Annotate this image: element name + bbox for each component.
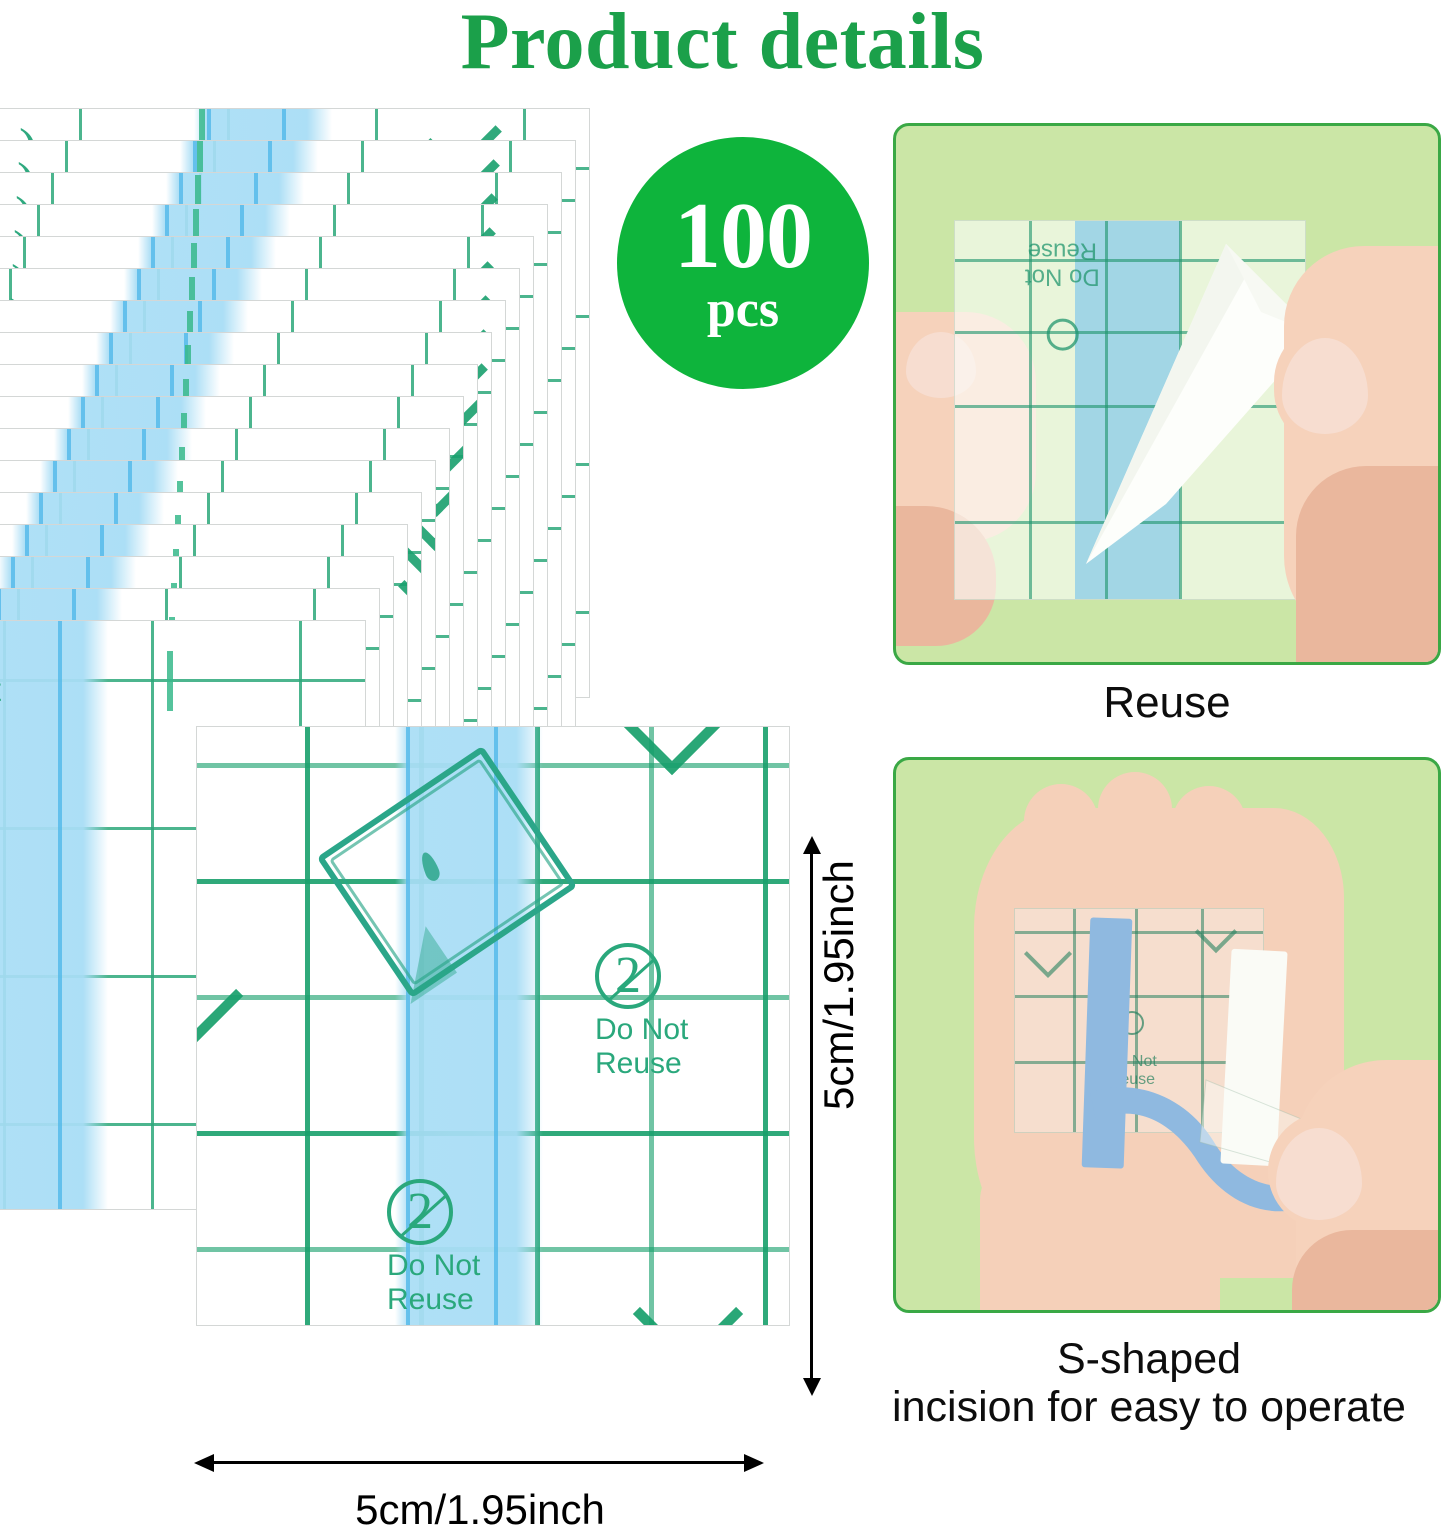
badge-unit: pcs <box>707 284 779 336</box>
grid-line <box>1073 909 1076 1132</box>
film-fragment-text-top: sot <box>0 671 1 709</box>
do-not-reuse-icon: 2 <box>595 943 661 1009</box>
height-dimension-label: 5cm/1.95inch <box>815 860 863 1110</box>
width-dimension-arrow <box>194 1454 764 1472</box>
hands-peeling-backing-photo: Do Not Reuse <box>893 123 1441 665</box>
front-film-sheet: 2 Do Not Reuse 2 Do Not Reuse <box>196 726 790 1326</box>
do-not-reuse-label: Do Not Reuse <box>387 1249 480 1316</box>
do-not-reuse-mark: 2 Do Not Reuse <box>387 1179 480 1316</box>
knuckle-finger <box>1024 784 1098 894</box>
grid-line <box>763 727 768 1325</box>
chevron-down-icon <box>196 941 243 1051</box>
width-dimension-label: 5cm/1.95inch <box>0 1486 960 1534</box>
grid-line <box>305 727 310 1325</box>
tick-mark <box>167 651 173 711</box>
badge-count: 100 <box>674 190 812 282</box>
do-not-reuse-icon: 2 <box>387 1179 453 1245</box>
knuckle-finger <box>1172 786 1246 896</box>
do-not-reuse-mark: 2 Do Not Reuse <box>595 943 688 1080</box>
do-not-reuse-glyph: 2 <box>391 1183 449 1241</box>
knuckle-finger <box>1098 772 1172 892</box>
s-shaped-caption: S-shaped incision for easy to operate <box>853 1335 1445 1431</box>
right-lower-finger <box>1296 466 1441 665</box>
do-not-reuse-glyph: 2 <box>599 947 657 1005</box>
blue-stripe <box>0 620 108 1210</box>
quantity-badge: 100 pcs <box>617 137 869 389</box>
chevron-down-icon <box>1024 930 1072 978</box>
hand-applying-film-photo: Do Not Reuse <box>893 757 1441 1313</box>
knuckle-finger <box>1242 818 1322 918</box>
reuse-caption: Reuse <box>893 678 1441 727</box>
page-title: Product details <box>0 2 1445 82</box>
gripping-lower-finger <box>1292 1230 1441 1313</box>
do-not-reuse-label: Do Not Reuse <box>595 1013 688 1080</box>
